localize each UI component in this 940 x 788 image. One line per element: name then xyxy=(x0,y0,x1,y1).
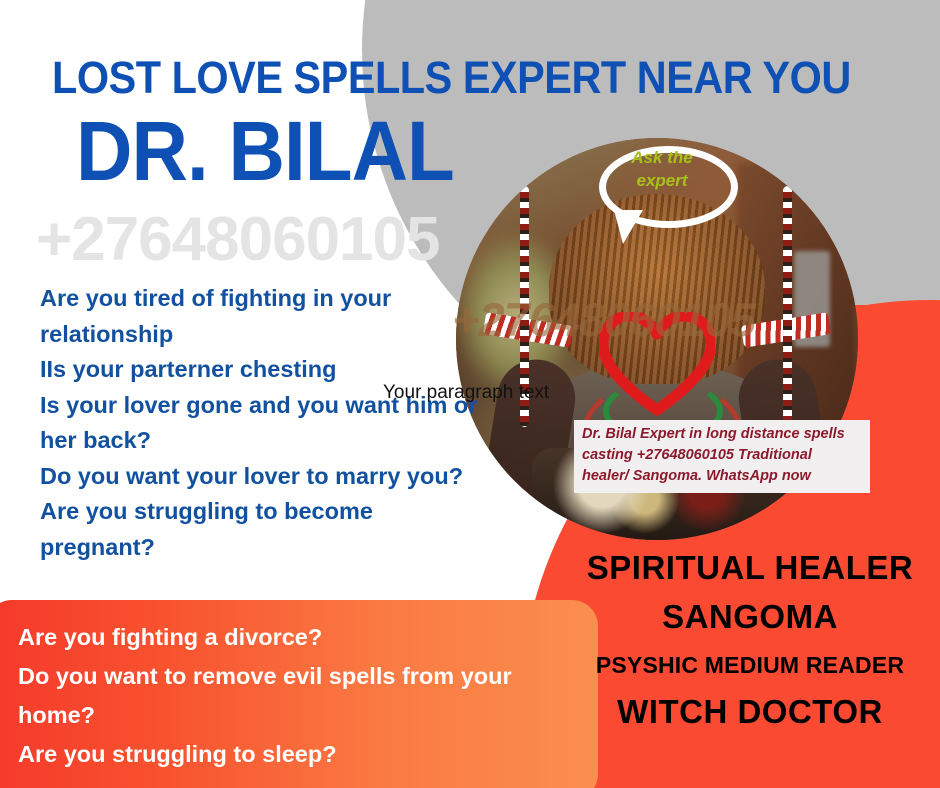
service-sangoma: SANGOMA xyxy=(560,591,940,643)
service-psychic-medium-reader: PSYSHIC MEDIUM READER xyxy=(560,643,940,687)
question-card-2: Do you want to remove evil spells from y… xyxy=(18,657,578,735)
poster-canvas: Ask the expert +27648060105 Dr. Bilal Ex… xyxy=(0,0,940,788)
question-blue-4: Do you want your lover to marry you? xyxy=(40,459,480,495)
questions-card: Are you fighting a divorce? Do you want … xyxy=(0,600,598,788)
service-spiritual-healer: SPIRITUAL HEALER xyxy=(560,545,940,591)
paragraph-placeholder-text: Your paragraph text xyxy=(383,381,549,405)
question-card-3: Are you struggling to sleep? xyxy=(18,735,578,774)
questions-card-list: Are you fighting a divorce? Do you want … xyxy=(18,618,578,774)
photo-caption-line-3: healer/ Sangoma. WhatsApp now xyxy=(582,466,862,487)
service-witch-doctor: WITCH DOCTOR xyxy=(560,687,940,737)
photo-caption-line-1: Dr. Bilal Expert in long distance spells xyxy=(582,424,862,445)
poster-name: DR. BILAL xyxy=(76,103,454,199)
poster-phone-large: +27648060105 xyxy=(36,205,440,275)
speech-bubble-line-1: Ask the xyxy=(601,146,723,169)
question-card-1: Are you fighting a divorce? xyxy=(18,618,578,657)
poster-headline: LOST LOVE SPELLS EXPERT NEAR YOU xyxy=(52,52,851,104)
photo-phone-overlay: +27648060105 xyxy=(452,292,872,347)
photo-caption-line-2: casting +27648060105 Traditional xyxy=(582,445,862,466)
question-blue-1: Are you tired of fighting in your relati… xyxy=(40,281,480,352)
questions-blue-list: Are you tired of fighting in your relati… xyxy=(40,281,480,565)
speech-bubble-line-2: expert xyxy=(601,169,723,192)
question-blue-5: Are you struggling to become pregnant? xyxy=(40,494,480,565)
photo-caption: Dr. Bilal Expert in long distance spells… xyxy=(574,420,870,493)
speech-bubble-text: Ask the expert xyxy=(601,146,723,192)
services-list: SPIRITUAL HEALER SANGOMA PSYSHIC MEDIUM … xyxy=(560,545,940,737)
